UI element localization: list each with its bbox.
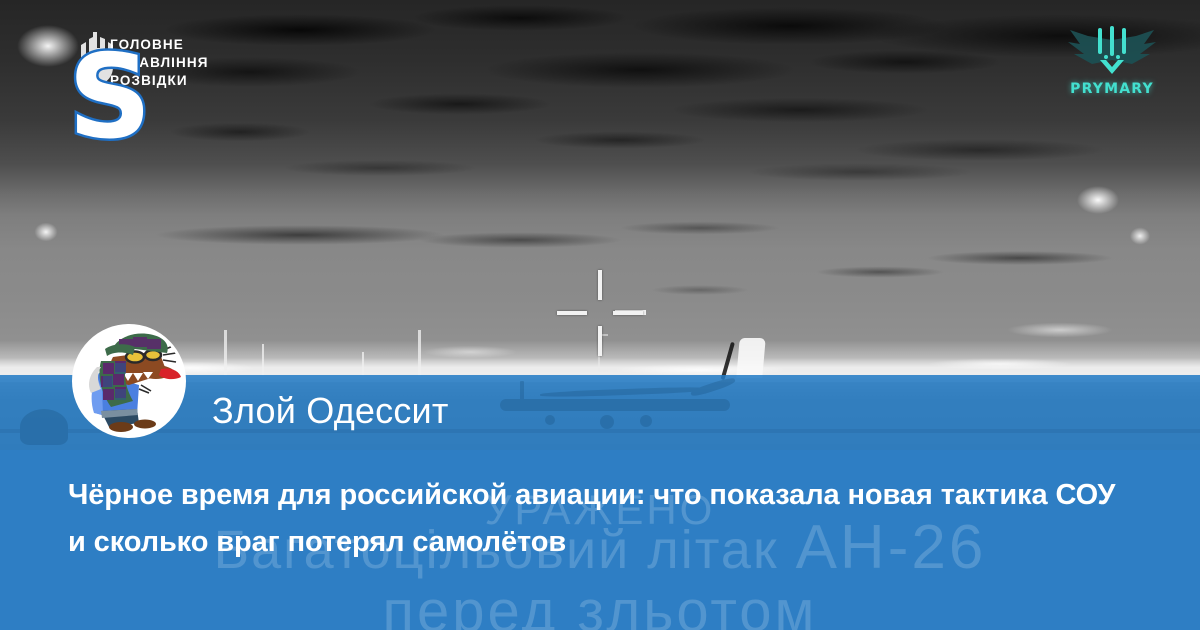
- prymary-logo-text: PRYMARY: [1052, 81, 1172, 97]
- channel-name: Злой Одессит: [212, 390, 449, 432]
- targeting-crosshair-icon: [555, 268, 645, 358]
- aircraft-tail-fin: [736, 338, 765, 378]
- gur-logo: ГОЛОВНЕ УПРАВЛІННЯ РОЗВІДКИ S: [62, 24, 282, 154]
- winged-owl-icon: [1066, 26, 1158, 80]
- avatar[interactable]: [72, 324, 186, 438]
- prymary-logo: PRYMARY: [1052, 26, 1172, 108]
- avatar-illustration: [75, 327, 183, 435]
- gur-s-overlay-letter: S: [68, 40, 152, 156]
- page-title: Чёрное время для российской авиации: что…: [68, 472, 1130, 566]
- crosshair-arm-bottom: [598, 326, 602, 356]
- crosshair-arm-right: [613, 311, 643, 315]
- crosshair-arm-left: [557, 311, 587, 315]
- crosshair-arm-top: [598, 270, 602, 300]
- channel-row[interactable]: Злой Одессит: [72, 324, 449, 438]
- share-card: ГОЛОВНЕ УПРАВЛІННЯ РОЗВІДКИ S: [0, 0, 1200, 630]
